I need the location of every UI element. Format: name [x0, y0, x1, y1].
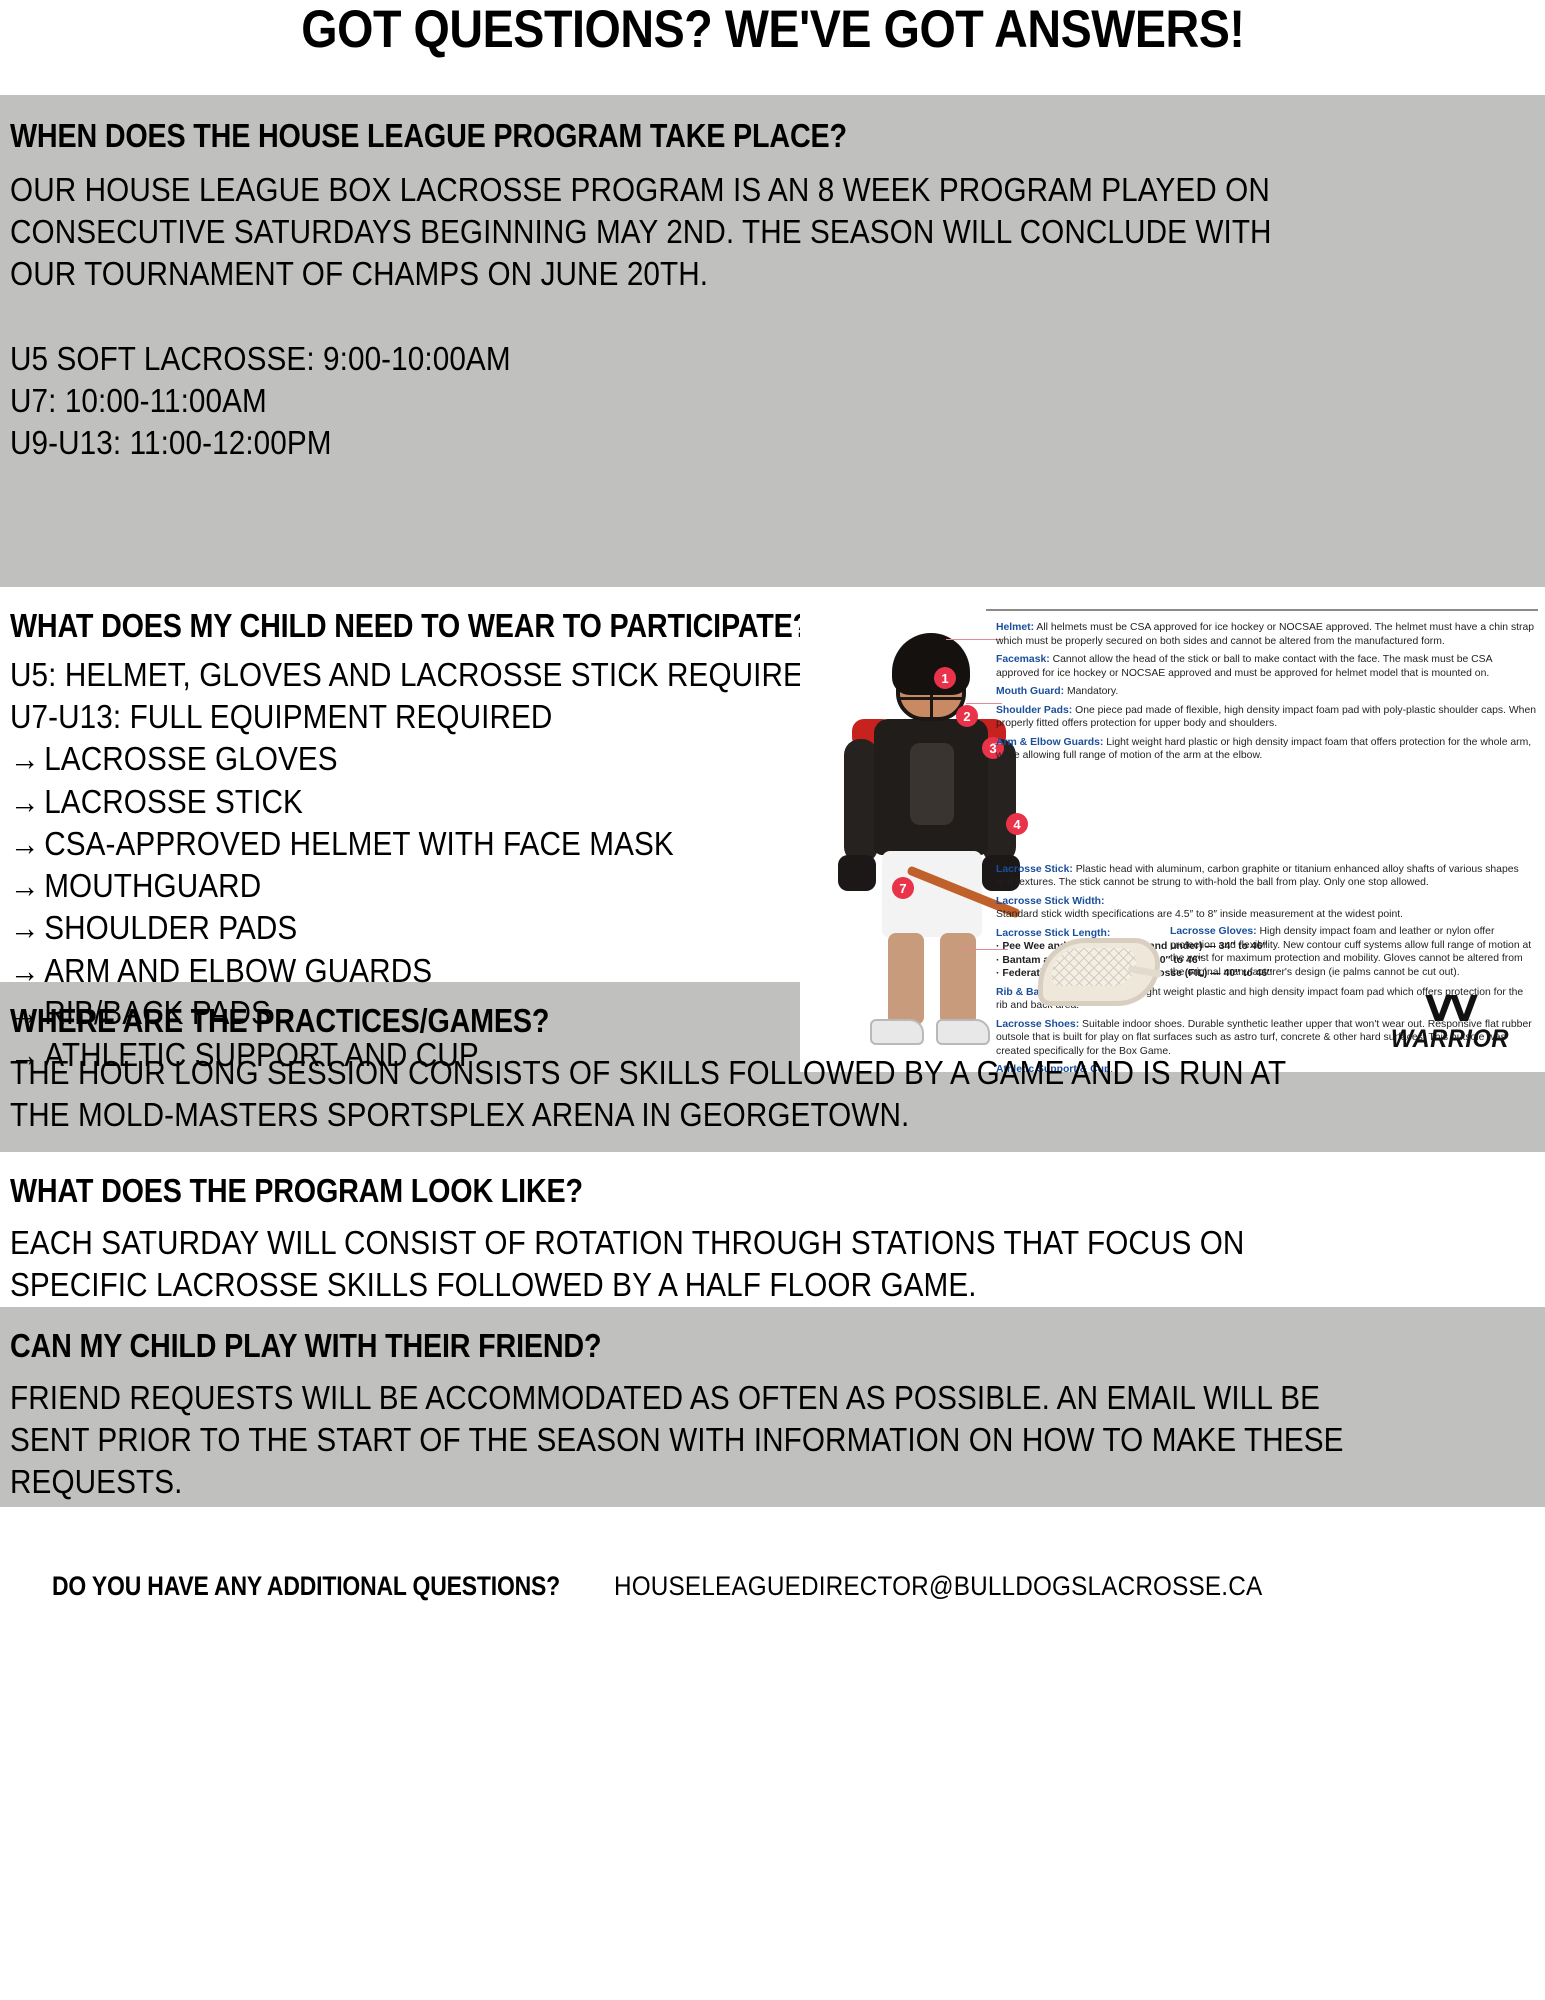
- schedule-heading: WHEN DOES THE HOUSE LEAGUE PROGRAM TAKE …: [10, 117, 1337, 155]
- equipment-item: →ARM AND ELBOW GUARDS: [10, 950, 820, 992]
- callout-marker-1: 1: [934, 667, 956, 689]
- helmet-icon: [892, 633, 970, 695]
- diagram-label: Helmet:: [996, 622, 1034, 633]
- equipment-diagram: 1 2 3 4 7 Helmet: All helmets must be CS…: [800, 597, 1545, 1072]
- schedule-line-1: OUR HOUSE LEAGUE BOX LACROSSE PROGRAM IS…: [10, 169, 1383, 211]
- arm-guard-left: [844, 739, 878, 863]
- stick-head-mesh: [1052, 948, 1136, 986]
- diagram-entry-arm-elbow-guards: Arm & Elbow Guards: Light weight hard pl…: [996, 736, 1536, 763]
- equipment-heading: WHAT DOES MY CHILD NEED TO WEAR TO PARTI…: [10, 607, 793, 645]
- warrior-logo: ⅤⅤ WARRIOR: [1375, 995, 1525, 1052]
- page-title-band: GOT QUESTIONS? WE'VE GOT ANSWERS!: [0, 0, 1545, 95]
- program-heading: WHAT DOES THE PROGRAM LOOK LIKE?: [10, 1172, 1337, 1210]
- location-heading: WHERE ARE THE PRACTICES/GAMES?: [10, 1002, 1337, 1040]
- equipment-item-label: SHOULDER PADS: [44, 909, 297, 946]
- equipment-item: →MOUTHGUARD: [10, 865, 820, 907]
- arrow-right-icon: →: [10, 950, 44, 992]
- footer-email-address[interactable]: HOUSELEAGUEDIRECTOR@BULLDOGSLACROSSE.CA: [614, 1571, 1262, 1602]
- location-line-2: THE MOLD-MASTERS SPORTSPLEX ARENA IN GEO…: [10, 1094, 1383, 1136]
- glove-left: [838, 855, 876, 891]
- program-line-1: EACH SATURDAY WILL CONSIST OF ROTATION T…: [10, 1222, 1383, 1264]
- page-title: GOT QUESTIONS? WE'VE GOT ANSWERS!: [301, 2, 1244, 58]
- section-program: WHAT DOES THE PROGRAM LOOK LIKE? EACH SA…: [0, 1152, 1545, 1307]
- diagram-label: Arm & Elbow Guards:: [996, 737, 1103, 748]
- diagram-label: Facemask:: [996, 654, 1050, 665]
- diagram-body: Mandatory.: [1064, 686, 1118, 697]
- diagram-top-rule: [986, 609, 1538, 611]
- diagram-entry-facemask: Facemask: Cannot allow the head of the s…: [996, 653, 1536, 680]
- diagram-label: Mouth Guard:: [996, 686, 1064, 697]
- schedule-spacer: [10, 296, 1383, 338]
- diagram-body: Cannot allow the head of the stick or ba…: [996, 654, 1492, 679]
- friend-line-1: FRIEND REQUESTS WILL BE ACCOMMODATED AS …: [10, 1377, 1383, 1419]
- warrior-w-mark-icon: ⅤⅤ: [1375, 995, 1525, 1026]
- callout-marker-2: 2: [956, 705, 978, 727]
- friend-line-3: REQUESTS.: [10, 1461, 1383, 1503]
- diagram-entry-lacrosse-gloves: Lacrosse Gloves: High density impact foa…: [1170, 925, 1536, 979]
- equipment-item-label: MOUTHGUARD: [44, 867, 261, 904]
- diagram-body: All helmets must be CSA approved for ice…: [996, 622, 1534, 647]
- equipment-item-label: LACROSSE STICK: [44, 783, 303, 820]
- lacrosse-stick-head-icon: [1032, 932, 1156, 1004]
- equipment-item: →SHOULDER PADS: [10, 907, 820, 949]
- equipment-item-label: ARM AND ELBOW GUARDS: [44, 952, 432, 989]
- diagram-sublabel: Lacrosse Stick Width:: [996, 895, 1536, 909]
- warrior-wordmark: WARRIOR: [1379, 1027, 1522, 1052]
- footer-contact: DO YOU HAVE ANY ADDITIONAL QUESTIONS? HO…: [0, 1507, 1545, 1607]
- leader-line-helmet: [946, 639, 1002, 640]
- diagram-label: Lacrosse Gloves:: [1170, 926, 1257, 937]
- diagram-body: One piece pad made of flexible, high den…: [996, 705, 1536, 730]
- section-equipment: WHAT DOES MY CHILD NEED TO WEAR TO PARTI…: [0, 587, 1545, 982]
- equipment-item-label: LACROSSE GLOVES: [44, 740, 338, 777]
- diagram-entry-helmet: Helmet: All helmets must be CSA approved…: [996, 621, 1536, 648]
- schedule-time-u5: U5 SOFT LACROSSE: 9:00-10:00AM: [10, 338, 1383, 380]
- callout-marker-7: 7: [892, 877, 914, 899]
- location-line-1: THE HOUR LONG SESSION CONSISTS OF SKILLS…: [10, 1052, 1383, 1094]
- arrow-right-icon: →: [10, 865, 44, 907]
- schedule-line-3: OUR TOURNAMENT OF CHAMPS ON JUNE 20TH.: [10, 253, 1383, 295]
- diagram-entry-lacrosse-stick: Lacrosse Stick: Plastic head with alumin…: [996, 863, 1536, 890]
- diagram-entry-shoulder-pads: Shoulder Pads: One piece pad made of fle…: [996, 704, 1536, 731]
- equipment-item: →LACROSSE STICK: [10, 781, 820, 823]
- equipment-line-u5: U5: HELMET, GLOVES AND LACROSSE STICK RE…: [10, 654, 820, 696]
- section-location: WHERE ARE THE PRACTICES/GAMES? THE HOUR …: [0, 982, 1545, 1152]
- diagram-body: Standard stick width specifications are …: [996, 909, 1403, 920]
- schedule-time-u7: U7: 10:00-11:00AM: [10, 380, 1383, 422]
- equipment-item: →CSA-APPROVED HELMET WITH FACE MASK: [10, 823, 820, 865]
- equipment-item-label: CSA-APPROVED HELMET WITH FACE MASK: [44, 825, 674, 862]
- equipment-item: →LACROSSE GLOVES: [10, 738, 820, 780]
- diagram-label: Shoulder Pads:: [996, 705, 1072, 716]
- friend-line-2: SENT PRIOR TO THE START OF THE SEASON WI…: [10, 1419, 1383, 1461]
- equipment-line-u7-u13: U7-U13: FULL EQUIPMENT REQUIRED: [10, 696, 820, 738]
- schedule-time-u9-u13: U9-U13: 11:00-12:00PM: [10, 422, 1383, 464]
- diagram-entry-mouthguard: Mouth Guard: Mandatory.: [996, 685, 1536, 699]
- arrow-right-icon: →: [10, 907, 44, 949]
- program-line-2: SPECIFIC LACROSSE SKILLS FOLLOWED BY A H…: [10, 1264, 1383, 1306]
- diagram-label: Lacrosse Stick:: [996, 864, 1073, 875]
- chest-plate: [910, 743, 954, 825]
- schedule-line-2: CONSECUTIVE SATURDAYS BEGINNING MAY 2ND.…: [10, 211, 1383, 253]
- section-schedule: WHEN DOES THE HOUSE LEAGUE PROGRAM TAKE …: [0, 95, 1545, 587]
- arrow-right-icon: →: [10, 781, 44, 823]
- arrow-right-icon: →: [10, 823, 44, 865]
- section-friend-requests: CAN MY CHILD PLAY WITH THEIR FRIEND? FRI…: [0, 1307, 1545, 1507]
- diagram-body: Plastic head with aluminum, carbon graph…: [996, 864, 1519, 889]
- diagram-entry-stick-width: Lacrosse Stick Width:Standard stick widt…: [996, 895, 1536, 922]
- footer-question-label: DO YOU HAVE ANY ADDITIONAL QUESTIONS?: [52, 1571, 560, 1602]
- friend-heading: CAN MY CHILD PLAY WITH THEIR FRIEND?: [10, 1327, 1337, 1365]
- arrow-right-icon: →: [10, 738, 44, 780]
